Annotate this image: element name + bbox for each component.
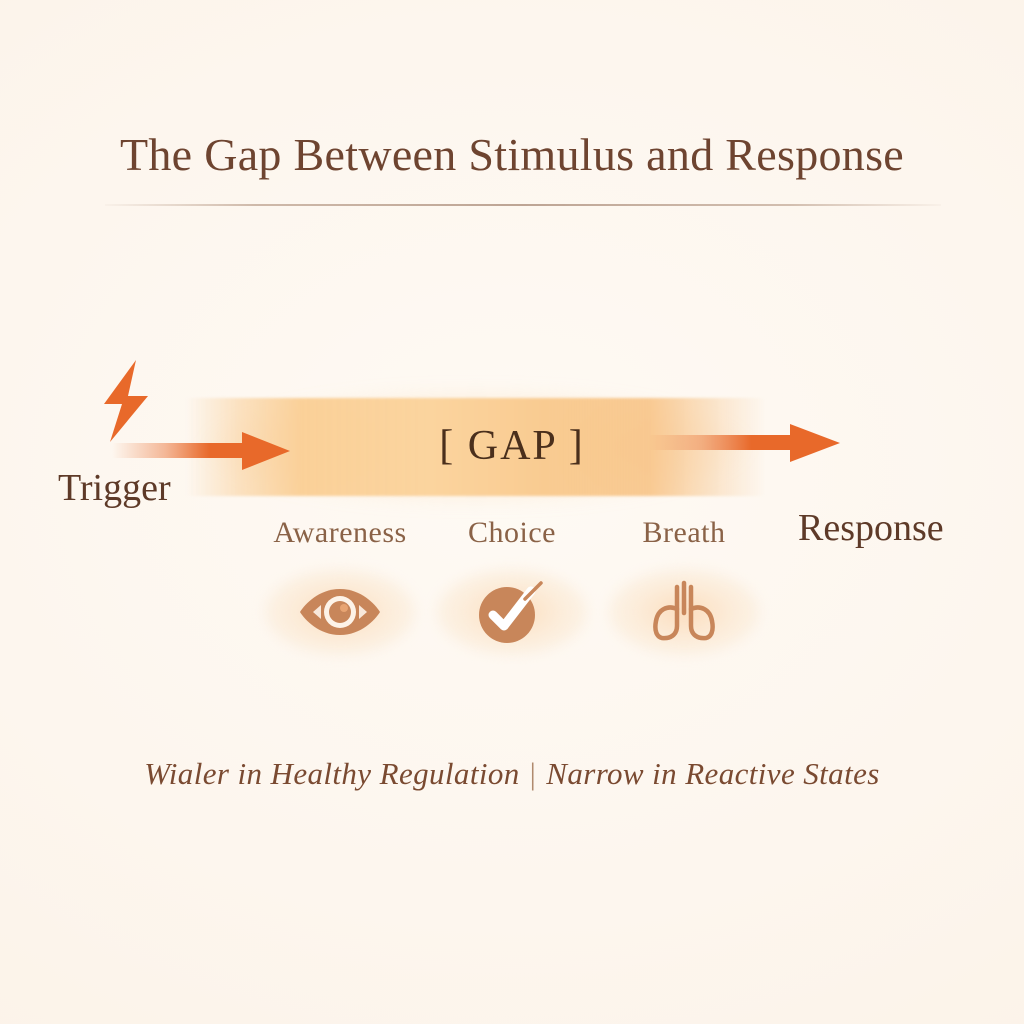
caption-left: Wialer in Healthy Regulation bbox=[144, 756, 519, 791]
step-icon-wrap-breath bbox=[600, 572, 768, 652]
caption-right: Narrow in Reactive States bbox=[546, 756, 879, 791]
caption: Wialer in Healthy Regulation|Narrow in R… bbox=[0, 756, 1024, 792]
poster-canvas: The Gap Between Stimulus and Response bbox=[0, 0, 1024, 1024]
trigger-label: Trigger bbox=[58, 466, 171, 510]
step-label-awareness: Awareness bbox=[256, 516, 424, 550]
step-breath: Breath bbox=[600, 516, 768, 652]
step-icon-wrap-awareness bbox=[256, 572, 424, 652]
step-icon-wrap-choice bbox=[428, 572, 596, 652]
caption-separator: | bbox=[520, 756, 547, 791]
step-choice: Choice bbox=[428, 516, 596, 652]
title-divider bbox=[105, 204, 941, 206]
step-label-choice: Choice bbox=[428, 516, 596, 550]
gap-label: [ GAP ] bbox=[0, 422, 1024, 470]
check-circle-icon bbox=[473, 577, 551, 647]
step-label-breath: Breath bbox=[600, 516, 768, 550]
step-awareness: Awareness bbox=[256, 516, 424, 652]
page-title: The Gap Between Stimulus and Response bbox=[0, 128, 1024, 181]
response-label: Response bbox=[798, 506, 944, 550]
lungs-icon bbox=[646, 579, 722, 645]
eye-icon bbox=[297, 584, 383, 640]
steps-row: Awareness Choice bbox=[256, 516, 768, 652]
